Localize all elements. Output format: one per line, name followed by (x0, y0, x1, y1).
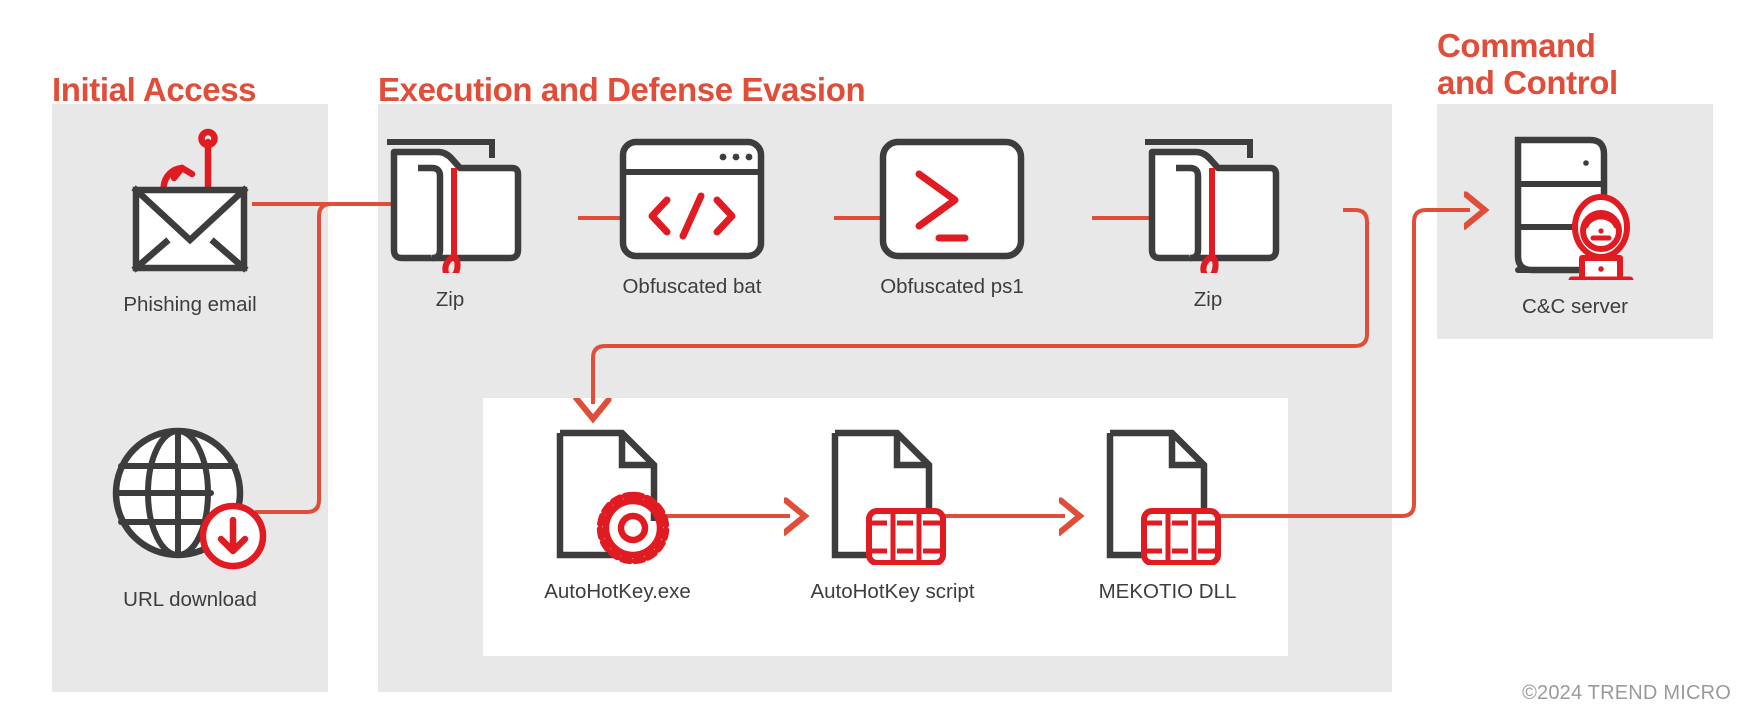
node-cc-server[interactable]: C&C server (1437, 128, 1713, 319)
node-label-ahk-exe: AutoHotKey.exe (495, 580, 740, 604)
node-url-download[interactable]: URL download (52, 418, 328, 612)
node-zip-2[interactable]: Zip (1128, 128, 1288, 312)
node-label-phishing-email: Phishing email (52, 293, 328, 317)
globe-download-icon (52, 418, 328, 578)
node-label-zip-2: Zip (1128, 288, 1288, 312)
copyright-notice: ©2024 TREND MICRO (1522, 682, 1731, 705)
stage-title-execution: Execution and Defense Evasion (378, 72, 865, 109)
envelope-hook-icon (52, 128, 328, 283)
stage-title-command-control: Command and Control (1437, 28, 1618, 102)
node-label-url-download: URL download (52, 588, 328, 612)
node-label-zip-1: Zip (370, 288, 530, 312)
node-label-cc-server: C&C server (1437, 295, 1713, 319)
node-phishing-email[interactable]: Phishing email (52, 128, 328, 317)
zip-folder-icon (1128, 128, 1288, 278)
node-ahk-script[interactable]: AutoHotKey script (770, 425, 1015, 604)
node-label-obfuscated-ps1: Obfuscated ps1 (852, 275, 1052, 299)
node-label-ahk-script: AutoHotKey script (770, 580, 1015, 604)
document-library-icon (770, 425, 1015, 570)
infographic-canvas: Initial Access Execution and Defense Eva… (0, 0, 1757, 723)
node-label-obfuscated-bat: Obfuscated bat (592, 275, 792, 299)
node-obfuscated-bat[interactable]: Obfuscated bat (592, 138, 792, 299)
node-zip-1[interactable]: Zip (370, 128, 530, 312)
document-gear-icon (495, 425, 740, 570)
node-obfuscated-ps1[interactable]: Obfuscated ps1 (852, 138, 1052, 299)
zip-folder-icon (370, 128, 530, 278)
node-label-mekotio-dll: MEKOTIO DLL (1045, 580, 1290, 604)
stage-title-initial-access: Initial Access (52, 72, 256, 109)
node-ahk-exe[interactable]: AutoHotKey.exe (495, 425, 740, 604)
code-window-icon (592, 138, 792, 265)
terminal-prompt-icon (852, 138, 1052, 265)
node-mekotio-dll[interactable]: MEKOTIO DLL (1045, 425, 1290, 604)
server-hacker-icon (1437, 128, 1713, 285)
document-library-icon (1045, 425, 1290, 570)
